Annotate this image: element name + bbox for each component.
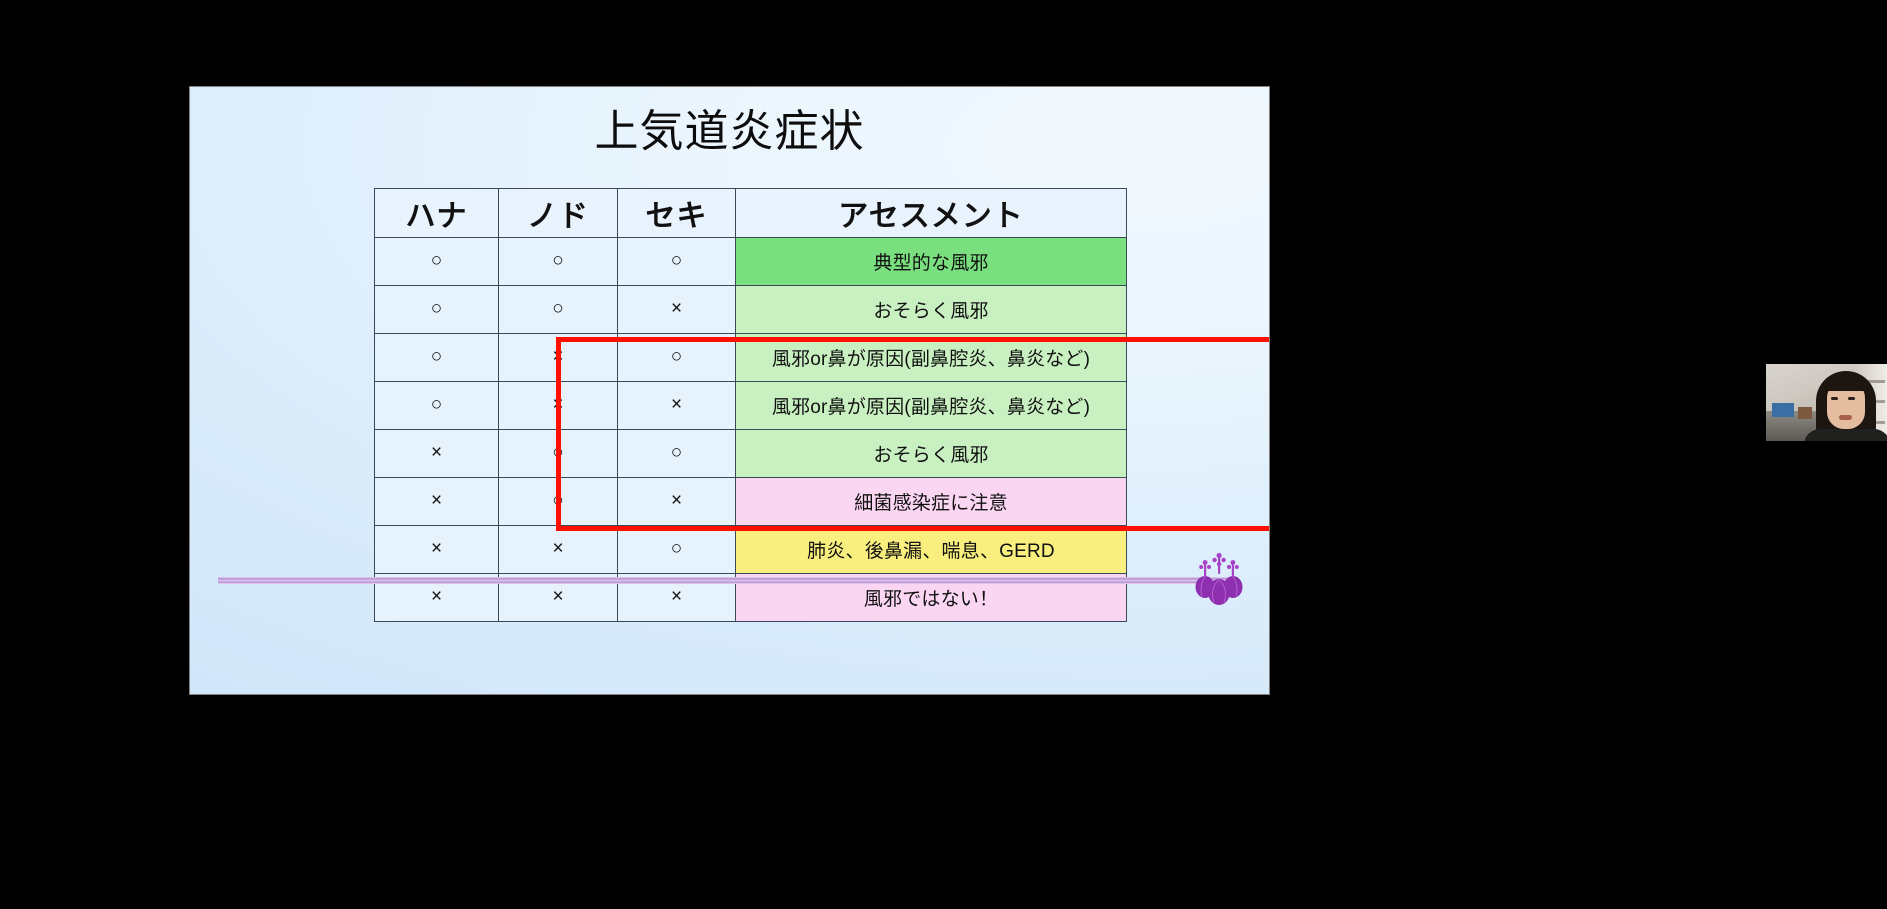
cell-hana: × <box>375 526 499 574</box>
cell-assessment: 風邪or鼻が原因(副鼻腔炎、鼻炎など) <box>736 334 1127 382</box>
symptom-assessment-table-wrapper: ハナ ノド セキ アセスメント ○○○典型的な風邪○○×おそらく風邪○×○風邪o… <box>374 188 1126 622</box>
screen-root: 上気道炎症状 ハナ ノド セキ アセスメント ○○○典型的な風邪○○×おそらく風… <box>0 0 1887 909</box>
cell-seki: × <box>618 478 736 526</box>
cell-nodo: × <box>499 334 618 382</box>
cell-seki: ○ <box>618 334 736 382</box>
cell-assessment: おそらく風邪 <box>736 430 1127 478</box>
cell-hana: ○ <box>375 238 499 286</box>
cell-assessment: 風邪or鼻が原因(副鼻腔炎、鼻炎など) <box>736 382 1127 430</box>
cell-hana: ○ <box>375 382 499 430</box>
cell-hana: ○ <box>375 334 499 382</box>
cell-nodo: ○ <box>499 430 618 478</box>
cell-hana: ○ <box>375 286 499 334</box>
cell-hana: × <box>375 430 499 478</box>
webcam-object-blue <box>1772 403 1794 417</box>
column-header-seki: セキ <box>618 189 736 238</box>
column-header-nodo: ノド <box>499 189 618 238</box>
table-row: ○○×おそらく風邪 <box>375 286 1127 334</box>
table-row: ×○×細菌感染症に注意 <box>375 478 1127 526</box>
footer-divider <box>218 577 1230 584</box>
presenter-webcam[interactable] <box>1766 364 1887 441</box>
page-title: 上気道炎症状 <box>190 107 1269 158</box>
cell-seki: × <box>618 382 736 430</box>
paulownia-crest-logo <box>1193 551 1245 605</box>
cell-nodo: ○ <box>499 286 618 334</box>
table-row: ××○肺炎、後鼻漏、喘息、GERD <box>375 526 1127 574</box>
cell-assessment: 典型的な風邪 <box>736 238 1127 286</box>
cell-seki: × <box>618 286 736 334</box>
cell-hana: × <box>375 478 499 526</box>
table-row: ○××風邪or鼻が原因(副鼻腔炎、鼻炎など) <box>375 382 1127 430</box>
cell-nodo: ○ <box>499 238 618 286</box>
cell-seki: ○ <box>618 526 736 574</box>
cell-assessment: 細菌感染症に注意 <box>736 478 1127 526</box>
column-header-assessment: アセスメント <box>736 189 1127 238</box>
symptom-assessment-table: ハナ ノド セキ アセスメント ○○○典型的な風邪○○×おそらく風邪○×○風邪o… <box>374 188 1127 622</box>
table-header-row: ハナ ノド セキ アセスメント <box>375 189 1127 238</box>
cell-seki: ○ <box>618 238 736 286</box>
column-header-hana: ハナ <box>375 189 499 238</box>
table-body: ○○○典型的な風邪○○×おそらく風邪○×○風邪or鼻が原因(副鼻腔炎、鼻炎など)… <box>375 238 1127 622</box>
cell-nodo: × <box>499 382 618 430</box>
table-row: ×○○おそらく風邪 <box>375 430 1127 478</box>
presentation-slide: 上気道炎症状 ハナ ノド セキ アセスメント ○○○典型的な風邪○○×おそらく風… <box>190 87 1269 694</box>
table-row: ○×○風邪or鼻が原因(副鼻腔炎、鼻炎など) <box>375 334 1127 382</box>
table-row: ○○○典型的な風邪 <box>375 238 1127 286</box>
cell-assessment: 肺炎、後鼻漏、喘息、GERD <box>736 526 1127 574</box>
cell-nodo: × <box>499 526 618 574</box>
cell-seki: ○ <box>618 430 736 478</box>
cell-assessment: おそらく風邪 <box>736 286 1127 334</box>
cell-nodo: ○ <box>499 478 618 526</box>
webcam-person <box>1810 367 1884 441</box>
